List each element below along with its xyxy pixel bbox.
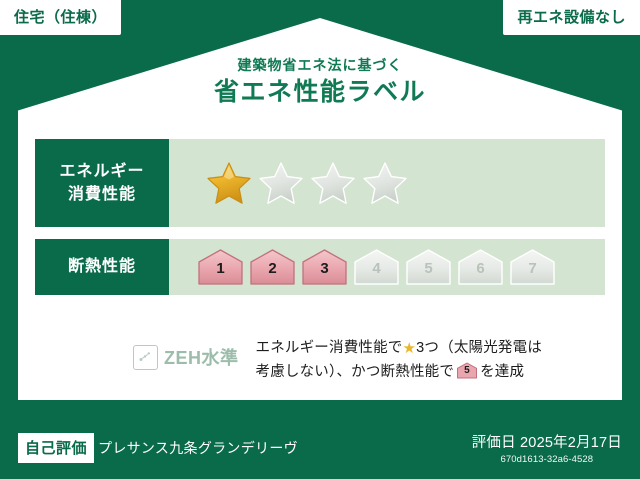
energy-performance-row-label: エネルギー 消費性能 bbox=[35, 139, 169, 227]
zeh-standard-description: エネルギー消費性能で★3つ（太陽光発電は考慮しない）、かつ断熱性能で5を達成 bbox=[256, 337, 546, 385]
footer-right: 評価日 2025年2月17日 670d1613-32a6-4528 bbox=[472, 431, 622, 465]
insulation-grade-scale: 1 2 3 bbox=[196, 248, 557, 286]
insulation-grade-badge: 1 bbox=[196, 248, 245, 286]
insulation-grade-badge: 5 bbox=[404, 248, 453, 286]
insulation-grade-value: 1 bbox=[196, 261, 245, 276]
insulation-grade-badge: 2 bbox=[248, 248, 297, 286]
star-icon bbox=[257, 160, 305, 206]
footer-left: 自己評価 プレサンス九条グランデリーヴ bbox=[18, 435, 298, 461]
renewable-energy-tag: 再エネ設備なし bbox=[503, 0, 640, 35]
building-type-tag-label: 住宅（住棟） bbox=[14, 6, 107, 27]
evaluation-id: 670d1613-32a6-4528 bbox=[472, 454, 622, 465]
insulation-performance-row-label: 断熱性能 bbox=[35, 239, 169, 295]
insulation-grade-badge: 4 bbox=[352, 248, 401, 286]
insulation-grade-value: 4 bbox=[352, 261, 401, 276]
insulation-performance-label-line1: 断熱性能 bbox=[68, 255, 136, 278]
insulation-grade-value: 3 bbox=[300, 261, 349, 276]
label-subtitle: 建築物省エネ法に基づく bbox=[0, 57, 640, 74]
label-title-block: 建築物省エネ法に基づく 省エネ性能ラベル bbox=[0, 57, 640, 110]
label-title: 省エネ性能ラベル bbox=[0, 76, 640, 110]
energy-performance-label-line1: エネルギー bbox=[59, 160, 144, 183]
self-evaluation-badge: 自己評価 bbox=[18, 433, 94, 463]
insulation-grade-badge: 6 bbox=[456, 248, 505, 286]
insulation-grade-value: 2 bbox=[248, 261, 297, 276]
evaluation-date: 評価日 2025年2月17日 bbox=[472, 431, 622, 452]
insulation-grade-value: 7 bbox=[508, 261, 557, 276]
insulation-grade-badge: 7 bbox=[508, 248, 557, 286]
insulation-grade-value: 5 bbox=[404, 261, 453, 276]
energy-performance-row: エネルギー 消費性能 bbox=[35, 139, 605, 227]
insulation-grade-badge: 3 bbox=[300, 248, 349, 286]
renewable-energy-tag-label: 再エネ設備なし bbox=[517, 6, 626, 27]
zeh-desc-part1: エネルギー消費性能で bbox=[256, 340, 403, 356]
building-type-tag: 住宅（住棟） bbox=[0, 0, 121, 35]
zeh-standard-mark: ZEH水準 bbox=[133, 344, 239, 370]
energy-performance-label-line2: 消費性能 bbox=[68, 183, 136, 206]
inline-insulation-grade-value: 5 bbox=[456, 366, 478, 376]
insulation-performance-value: 1 2 3 bbox=[169, 239, 605, 295]
insulation-performance-row: 断熱性能 1 bbox=[35, 239, 605, 295]
star-icon bbox=[205, 160, 253, 206]
zeh-standard-section: ZEH水準 エネルギー消費性能で★3つ（太陽光発電は考慮しない）、かつ断熱性能で… bbox=[133, 337, 546, 385]
star-rating bbox=[205, 160, 409, 206]
inline-star-icon: ★ bbox=[403, 340, 417, 357]
zeh-standard-label: ZEH水準 bbox=[164, 344, 239, 370]
insulation-grade-value: 6 bbox=[456, 261, 505, 276]
zeh-desc-part3: を達成 bbox=[480, 364, 524, 380]
star-icon bbox=[309, 160, 357, 206]
building-name: プレサンス九条グランデリーヴ bbox=[98, 438, 298, 458]
energy-performance-label: 住宅（住棟） 再エネ設備なし 建築物省エネ法に基づく 省エネ性能ラベル エネルギ… bbox=[0, 0, 640, 479]
energy-performance-value bbox=[169, 139, 605, 227]
star-icon bbox=[361, 160, 409, 206]
inline-insulation-grade-badge: 5 bbox=[456, 362, 478, 379]
zeh-solar-icon bbox=[133, 345, 158, 370]
